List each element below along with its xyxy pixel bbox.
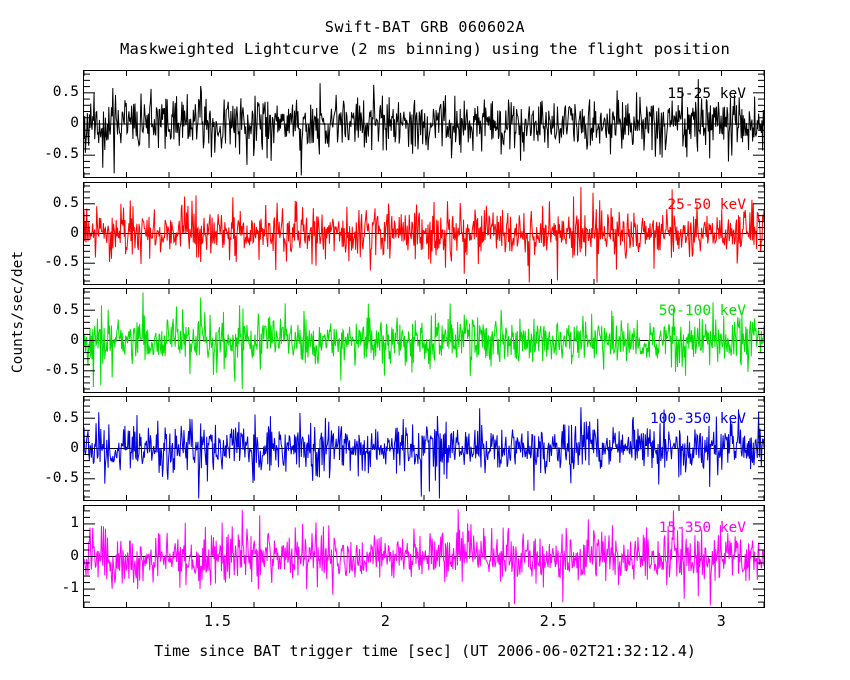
lightcurve-trace xyxy=(84,289,764,392)
y-tick-label: -0.5 xyxy=(33,146,79,162)
y-tick-label: 0 xyxy=(33,115,79,131)
y-axis-label: Counts/sec/det xyxy=(10,212,26,412)
y-tick-label: -0.5 xyxy=(33,362,79,378)
lightcurve-panel-15-350-kev: 15-350 keV xyxy=(83,505,765,608)
lightcurve-panel-15-25-kev: 15-25 keV xyxy=(83,70,765,178)
lightcurve-figure: Swift-BAT GRB 060602A Maskweighted Light… xyxy=(0,0,850,680)
lightcurve-trace xyxy=(84,506,764,607)
x-axis-label: Time since BAT trigger time [sec] (UT 20… xyxy=(0,642,850,660)
lightcurve-trace xyxy=(84,71,764,177)
y-tick-label: 0 xyxy=(33,332,79,348)
y-tick-label: -0.5 xyxy=(33,254,79,270)
y-tick-label: 0 xyxy=(33,225,79,241)
lightcurve-panel-100-350-kev: 100-350 keV xyxy=(83,396,765,501)
lightcurve-panel-25-50-kev: 25-50 keV xyxy=(83,182,765,285)
x-tick-label: 2.5 xyxy=(523,612,583,630)
x-tick-label: 3 xyxy=(691,612,751,630)
x-tick-label: 1.5 xyxy=(187,612,247,630)
y-tick-label: 0 xyxy=(33,548,79,564)
y-tick-label: 1 xyxy=(33,515,79,531)
figure-subtitle: Maskweighted Lightcurve (2 ms binning) u… xyxy=(0,40,850,58)
y-tick-label: 0.5 xyxy=(33,410,79,426)
y-tick-label: 0.5 xyxy=(33,84,79,100)
y-tick-label: -1 xyxy=(33,580,79,596)
y-tick-label: 0 xyxy=(33,440,79,456)
y-tick-label: 0.5 xyxy=(33,302,79,318)
y-tick-label: -0.5 xyxy=(33,470,79,486)
y-tick-label: 0.5 xyxy=(33,195,79,211)
x-tick-label: 2 xyxy=(355,612,415,630)
lightcurve-panel-50-100-kev: 50-100 keV xyxy=(83,288,765,393)
figure-title: Swift-BAT GRB 060602A xyxy=(0,18,850,36)
lightcurve-trace xyxy=(84,397,764,500)
lightcurve-trace xyxy=(84,183,764,284)
